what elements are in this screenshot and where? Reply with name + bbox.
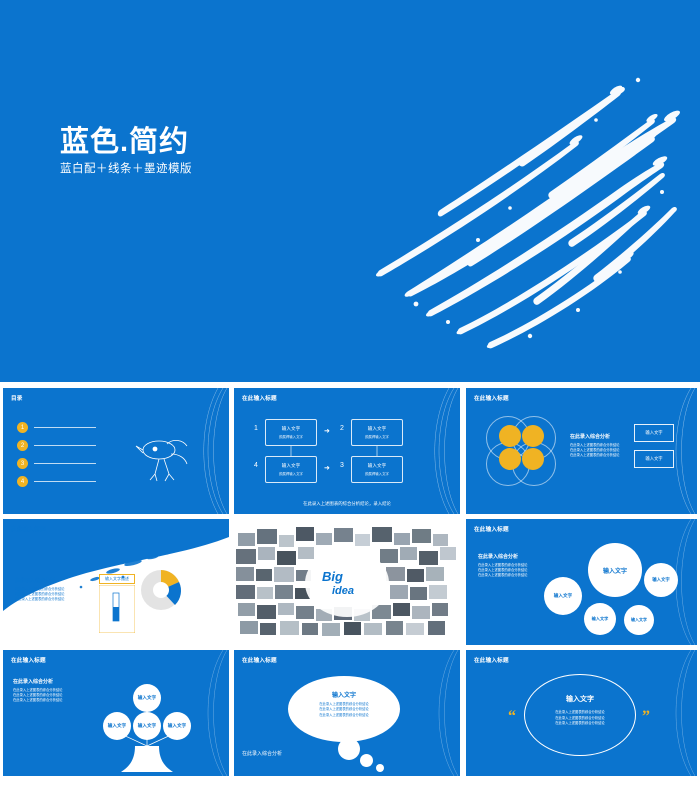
summary-body: 在此录入上述图表的综合分析结论 在此录入上述图表的综合分析结论 在此录入上述图表…: [15, 587, 85, 602]
summary-body: 在此录入上述图表的综合分析结论 在此录入上述图表的综合分析结论 在此录入上述图表…: [13, 688, 69, 703]
catalog-item-4[interactable]: 4: [17, 476, 96, 487]
photo-collage: [234, 519, 460, 645]
slide-header: 在此输入标题: [474, 656, 509, 664]
summary-title: 在此录入综合分析: [15, 577, 55, 584]
summary-title: 在此录入综合分析: [478, 553, 518, 560]
collage-photos: [234, 519, 460, 645]
speech-bubble-tail-3: [376, 764, 384, 772]
slide-speech[interactable]: 在此输入标题 输入文字 在此录入上述图表的综合分析结论 在此录入上述图表的综合分…: [234, 650, 460, 776]
speech-body: 在此录入上述图表的综合分析结论 在此录入上述图表的综合分析结论 在此录入上述图表…: [302, 702, 386, 718]
flower-petal[interactable]: [522, 425, 544, 447]
ink-splash-decoration: [320, 60, 700, 350]
tree-node-right[interactable]: 输入文字: [163, 712, 191, 740]
slide-flower[interactable]: 在此输入标题 在此录入综合分析 在此录入上述图表的综合分析结论 在此录入上述图表…: [466, 388, 697, 514]
label-box-2[interactable]: 输入文字: [634, 450, 674, 468]
slide-bubbles[interactable]: 在此输入标题 在此录入综合分析 在此录入上述图表的综合分析结论 在此录入上述图表…: [466, 519, 697, 645]
slide-catalog[interactable]: 目录 1 2 3 4: [3, 388, 229, 514]
flower-petal[interactable]: [499, 448, 521, 470]
bubble-5[interactable]: 输入文字: [624, 605, 654, 635]
collage-word-big: Big: [322, 569, 343, 584]
quote-close-icon: ”: [642, 708, 650, 726]
slide-tree[interactable]: 在此输入标题 在此录入综合分析 在此录入上述图表的综合分析结论 在此录入上述图表…: [3, 650, 229, 776]
catalog-item-3[interactable]: 3: [17, 458, 96, 469]
catalog-item-2[interactable]: 2: [17, 440, 96, 451]
callout-box[interactable]: 输入文字描述: [99, 574, 135, 584]
catalog-item-1[interactable]: 1: [17, 422, 96, 433]
bubble-2[interactable]: 输入文字: [544, 577, 582, 615]
speech-bubble-tail-1: [338, 738, 360, 760]
slide-collage[interactable]: Big idea: [234, 519, 460, 645]
callout-connector: [99, 585, 135, 633]
slide-header: 在此输入标题: [474, 525, 509, 533]
bubble-4[interactable]: 输入文字: [584, 603, 616, 635]
speech-title: 输入文字: [288, 690, 400, 699]
catalog-number: 4: [17, 476, 28, 487]
tree-node-left[interactable]: 输入文字: [103, 712, 131, 740]
collage-word-idea: idea: [332, 585, 354, 597]
speech-bubble-tail-2: [360, 754, 373, 767]
slide-header: 在此输入标题: [11, 656, 46, 664]
catalog-number: 2: [17, 440, 28, 451]
summary-body: 在此录入上述图表的综合分析结论 在此录入上述图表的综合分析结论 在此录入上述图表…: [478, 563, 536, 578]
quote-open-icon: “: [508, 708, 516, 726]
step-connectors: [234, 388, 460, 514]
flower-petal[interactable]: [499, 425, 521, 447]
slide-header: 在此输入标题: [11, 525, 46, 533]
slide-thumbnail-grid: 目录 1 2 3 4: [0, 388, 700, 791]
slide-steps[interactable]: 在此输入标题 1 输入文字 颜属焊输入文字 ➜ 2 输入文字 颜属焊输入文字 4…: [234, 388, 460, 514]
hero-subtitle: 蓝白配＋线条＋墨迹模版: [60, 160, 192, 176]
hero-title: 蓝色.简约: [60, 118, 189, 160]
slide-pie[interactable]: 在此输入标题 在此录入综合分析 在此录入上述图表的综合分析结论 在此录入上述图表…: [3, 519, 229, 645]
catalog-rule: [34, 427, 96, 428]
summary-title: 在此录入综合分析: [570, 433, 610, 440]
bird-illustration-icon: [131, 432, 193, 488]
catalog-rule: [34, 445, 96, 446]
presentation-template-preview: 蓝色.简约 蓝白配＋线条＋墨迹模版 目录 1 2 3: [0, 0, 700, 791]
catalog-rule: [34, 481, 96, 482]
speech-footer: 在此录入综合分析: [242, 750, 282, 757]
quote-title: 输入文字: [524, 694, 636, 704]
summary-title: 在此录入综合分析: [13, 678, 53, 685]
quote-body: 在此录入上述图表的综合分析结论 在此录入上述图表的综合分析结论 在此录入上述图表…: [534, 710, 626, 727]
catalog-number: 3: [17, 458, 28, 469]
slide-header: 目录: [11, 394, 23, 402]
slide-header: 在此输入标题: [242, 656, 277, 664]
slide-footer-note: 在此录入上述图表的综合分析结论，录入结论: [234, 501, 460, 507]
flower-petal[interactable]: [522, 448, 544, 470]
tree-node-top[interactable]: 输入文字: [133, 684, 161, 712]
bubble-1[interactable]: 输入文字: [588, 543, 642, 597]
summary-body: 在此录入上述图表的综合分析结论 在此录入上述图表的综合分析结论 在此录入上述图表…: [570, 443, 628, 458]
tree-node-center[interactable]: 输入文字: [133, 712, 161, 740]
label-box-1[interactable]: 输入文字: [634, 424, 674, 442]
pie-chart[interactable]: [133, 567, 189, 613]
catalog-number: 1: [17, 422, 28, 433]
arc-lines-decoration: [400, 650, 460, 776]
hero-slide: 蓝色.简约 蓝白配＋线条＋墨迹模版: [0, 0, 700, 382]
slide-quote[interactable]: 在此输入标题 “ ” 输入文字 在此录入上述图表的综合分析结论 在此录入上述图表…: [466, 650, 697, 776]
bubble-3[interactable]: 输入文字: [644, 563, 678, 597]
slide-header: 在此输入标题: [474, 394, 509, 402]
catalog-rule: [34, 463, 96, 464]
